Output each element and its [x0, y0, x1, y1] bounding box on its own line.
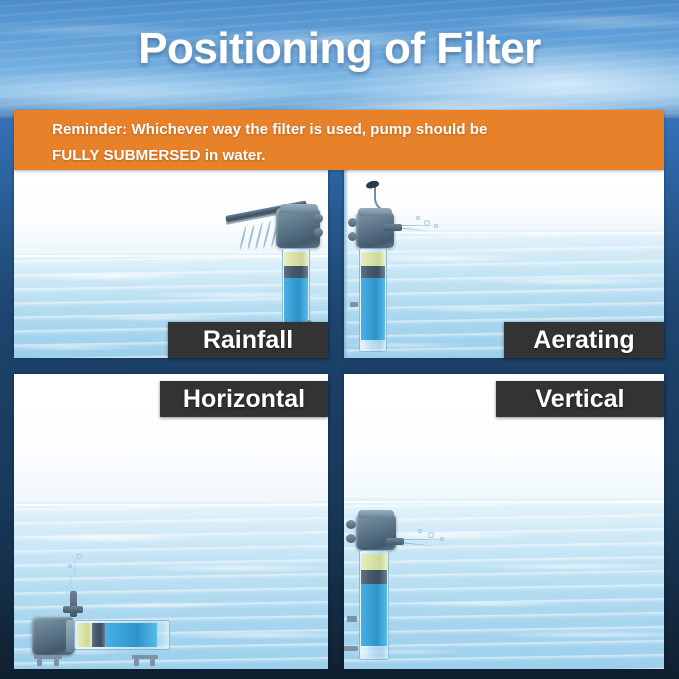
- outlet-nozzle-icon: [63, 606, 83, 613]
- air-tube-icon: [70, 591, 77, 617]
- reminder-line-2: FULLY SUBMERSED in water.: [52, 143, 646, 169]
- carbon-cartridge: [361, 570, 387, 584]
- bubbles-icon: [74, 558, 82, 578]
- cream-cartridge: [361, 554, 387, 570]
- tank-wall: [344, 170, 348, 358]
- suction-cup-icon: [346, 534, 356, 543]
- panel-horizontal: [14, 374, 328, 669]
- bubbles-icon: [77, 554, 82, 559]
- water-surface-line: [344, 501, 664, 503]
- carbon-cartridge: [92, 623, 105, 647]
- sponge-cartridge: [361, 278, 385, 340]
- suction-cup-icon: [348, 218, 357, 227]
- bubbles-icon: [440, 537, 444, 541]
- suction-cup-icon: [346, 520, 356, 529]
- carbon-cartridge: [284, 266, 308, 278]
- suction-cup-icon: [348, 232, 357, 241]
- bubbles-icon: [416, 216, 420, 220]
- panel-label-vertical: Vertical: [496, 381, 664, 417]
- sponge-cartridge: [361, 584, 387, 646]
- outlet-nozzle-icon: [386, 538, 404, 545]
- panel-label-horizontal: Horizontal: [160, 381, 328, 417]
- suction-cup-icon: [314, 214, 323, 223]
- reminder-banner: Reminder: Whichever way the filter is us…: [14, 110, 664, 170]
- panel-label-rainfall: Rainfall: [168, 322, 328, 358]
- page-title: Positioning of Filter: [0, 24, 679, 74]
- panel-label-aerating: Aerating: [504, 322, 664, 358]
- mount-bracket-icon: [54, 659, 59, 666]
- suction-cup-icon: [314, 228, 323, 237]
- mount-bracket-icon: [344, 646, 358, 651]
- sponge-cartridge: [105, 623, 157, 647]
- pump-motor-lid-icon: [358, 510, 394, 518]
- water-surface-line: [14, 255, 328, 257]
- outlet-nozzle-icon: [384, 224, 402, 231]
- pump-motor-lid-icon: [280, 204, 318, 213]
- mount-bracket-icon: [134, 659, 139, 666]
- cream-cartridge: [77, 623, 92, 647]
- bubbles-icon: [434, 224, 438, 228]
- infographic-canvas: Positioning of Filter Reminder: Whicheve…: [0, 0, 679, 679]
- pump-motor-lid-icon: [358, 208, 392, 216]
- pump-motor-icon: [276, 208, 320, 248]
- carbon-cartridge: [361, 266, 385, 278]
- cream-cartridge: [284, 252, 308, 266]
- mount-bracket-icon: [150, 659, 155, 666]
- bubbles-icon: [428, 532, 434, 538]
- mount-bracket-icon: [350, 302, 358, 307]
- mount-bracket-icon: [37, 659, 42, 666]
- mount-bracket-icon: [347, 616, 357, 622]
- water-surface-line: [14, 504, 328, 506]
- bubbles-icon: [68, 564, 72, 568]
- water-jet-icon: [404, 539, 444, 540]
- water-jet-icon: [402, 225, 436, 226]
- reminder-line-1: Reminder: Whichever way the filter is us…: [52, 117, 646, 143]
- bubbles-icon: [424, 220, 430, 226]
- bubbles-icon: [418, 529, 422, 533]
- cream-cartridge: [361, 252, 385, 266]
- panel-vertical: [344, 374, 664, 669]
